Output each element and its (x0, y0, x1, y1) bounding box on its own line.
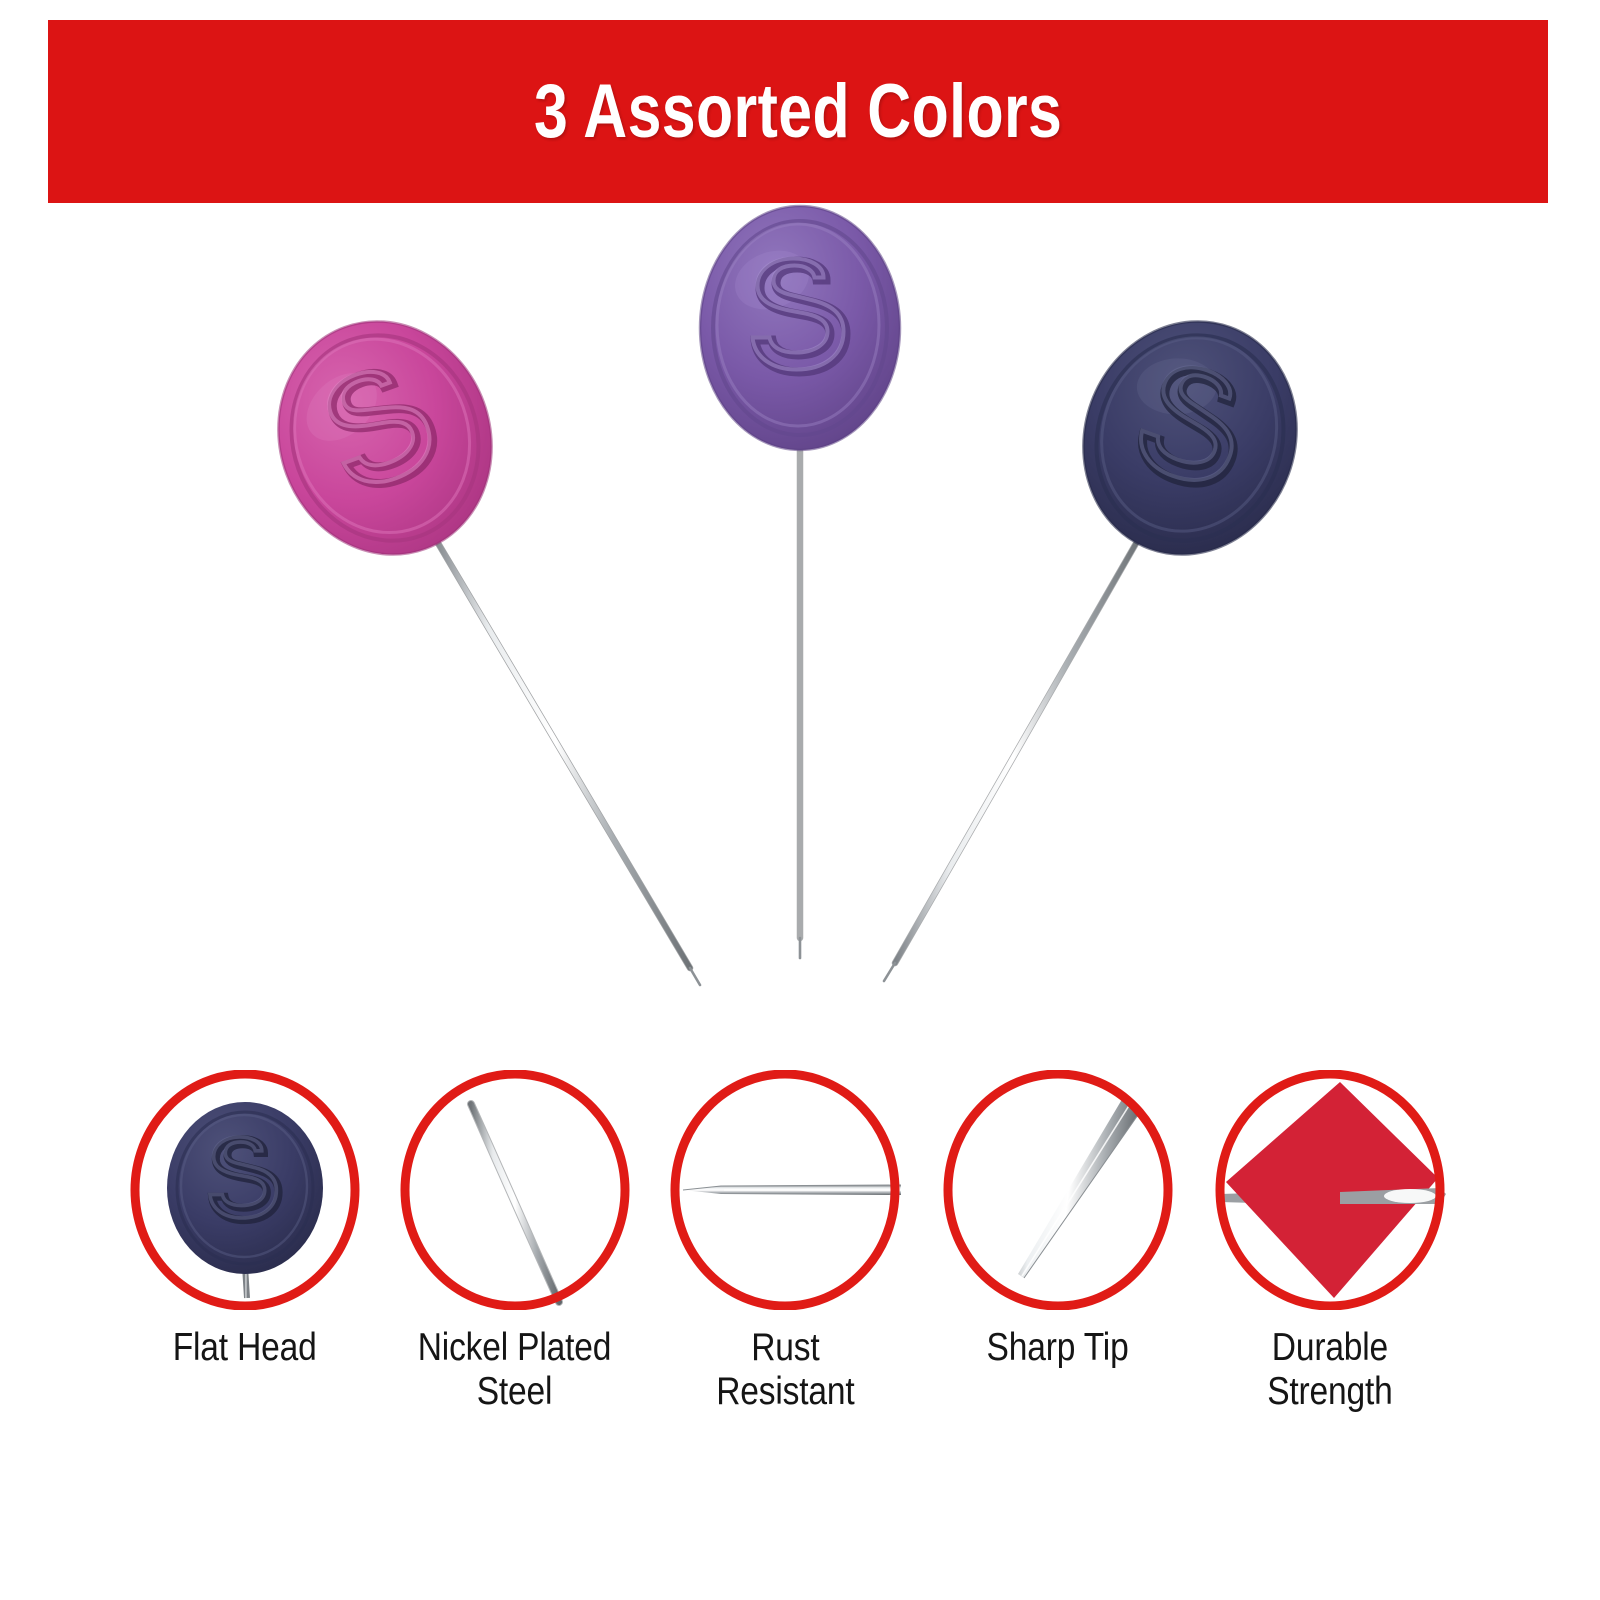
purple-pin-head (700, 206, 900, 450)
pins-illustration (0, 203, 1600, 1053)
feature-item-sharp-tip: Sharp Tip (918, 1070, 1198, 1370)
sharp-tip-icon (942, 1070, 1174, 1310)
header-banner: 3 Assorted Colors (48, 20, 1548, 203)
feature-label: Rust Resistant (716, 1326, 854, 1413)
feature-label: Durable Strength (1267, 1326, 1392, 1413)
page-title: 3 Assorted Colors (534, 68, 1062, 155)
navy-pin (884, 291, 1329, 981)
navy-pin-head (1051, 291, 1329, 585)
feature-label: Flat Head (173, 1326, 317, 1370)
feature-label: Sharp Tip (987, 1326, 1129, 1370)
flat-head-icon (129, 1070, 361, 1310)
pink-pin-shaft (432, 533, 700, 985)
steel-shaft-icon (399, 1070, 631, 1310)
feature-label: Nickel Plated Steel (418, 1326, 612, 1413)
purple-pin (700, 206, 900, 958)
infographic-page: 3 Assorted Colors (0, 0, 1600, 1600)
needle-icon (669, 1070, 901, 1310)
hero-pins-group (0, 203, 1600, 1053)
pink-pin-head (246, 291, 524, 585)
pink-pin (246, 291, 700, 985)
fabric-pierce-icon (1214, 1070, 1446, 1310)
feature-row: Flat Head (0, 1070, 1600, 1500)
feature-item-flat-head: Flat Head (105, 1070, 385, 1370)
navy-pin-shaft (884, 533, 1142, 981)
feature-item-rust-resistant: Rust Resistant (645, 1070, 925, 1413)
feature-item-durable-strength: Durable Strength (1190, 1070, 1470, 1413)
feature-item-nickel-plated-steel: Nickel Plated Steel (375, 1070, 655, 1413)
